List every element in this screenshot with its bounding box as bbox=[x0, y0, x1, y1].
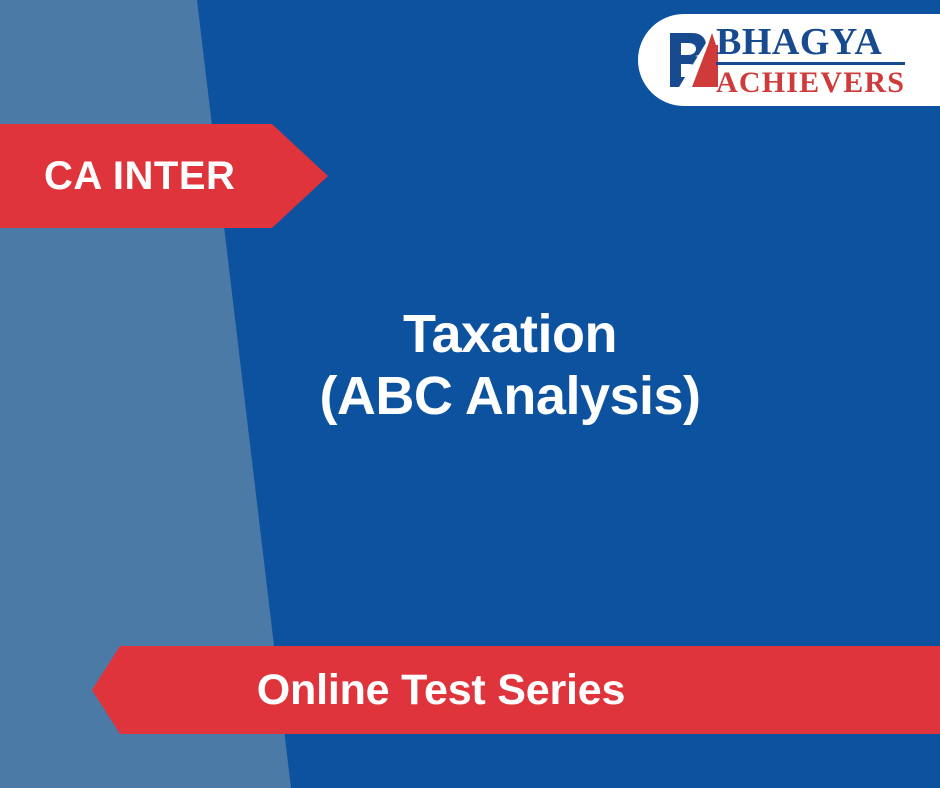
brand-name-top: BHAGYA bbox=[716, 23, 905, 65]
brand-wordmark: BHAGYA ACHIEVERS bbox=[716, 23, 905, 98]
brand-logo-badge: BHAGYA ACHIEVERS bbox=[638, 14, 940, 106]
subject-title-line1: Taxation bbox=[240, 304, 780, 366]
subject-title: Taxation (ABC Analysis) bbox=[240, 304, 780, 427]
bhagya-achievers-monogram-icon bbox=[668, 31, 718, 89]
product-type-label: Online Test Series bbox=[257, 666, 625, 715]
course-level-label: CA INTER bbox=[0, 154, 235, 199]
subject-title-line2: (ABC Analysis) bbox=[240, 366, 780, 428]
course-poster: BHAGYA ACHIEVERS CA INTER Taxation (ABC … bbox=[0, 0, 940, 788]
brand-name-bottom: ACHIEVERS bbox=[716, 68, 905, 98]
course-level-ribbon: CA INTER bbox=[0, 124, 328, 228]
product-type-ribbon: Online Test Series bbox=[92, 646, 940, 734]
